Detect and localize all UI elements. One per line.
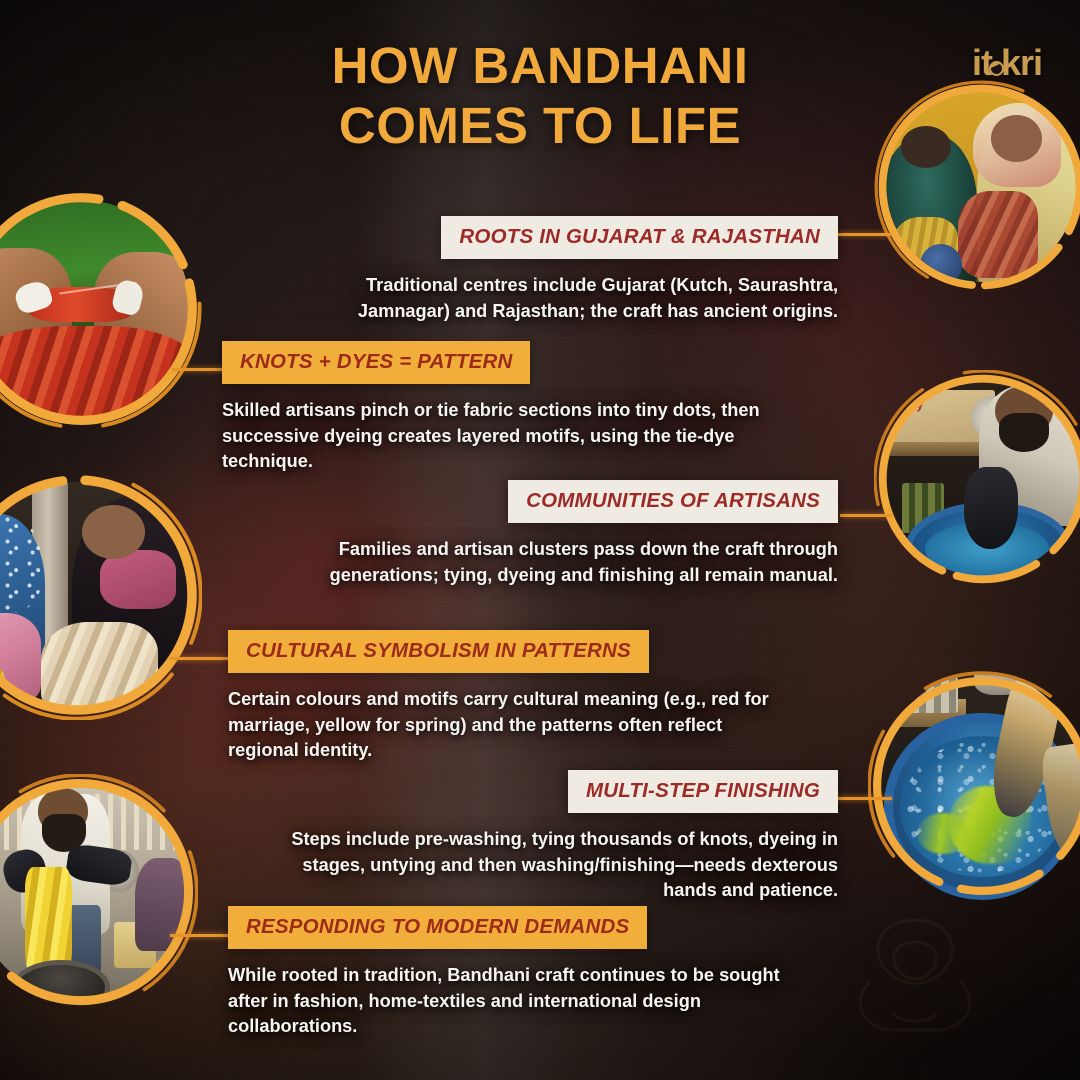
section-symbolism: CULTURAL SYMBOLISM IN PATTERNS Certain c… [228,630,848,764]
section-body-communities: Families and artisan clusters pass down … [250,537,838,588]
photo-dyer-blue-vat: y.y [886,382,1080,576]
connector-line-knots [172,368,228,371]
section-label-communities[interactable]: COMMUNITIES OF ARTISANS [508,480,838,523]
photo-dyer-blue-vat-image: y.y [886,382,1080,576]
section-communities: COMMUNITIES OF ARTISANS Families and art… [250,480,838,588]
section-knots: KNOTS + DYES = PATTERN Skilled artisans … [222,341,842,475]
photo-man-lifting-yellow-fabric-image [0,786,186,998]
page-title-line-1: HOW BANDHANI [0,36,1080,96]
connector-line-communities [840,514,892,517]
connector-line-symbolism [170,657,228,660]
section-body-roots: Traditional centres include Gujarat (Kut… [270,273,838,324]
photo-man-lifting-yellow-fabric [0,786,186,998]
photo-women-tying-courtyard [0,482,190,708]
itokri-logo[interactable]: itkri [972,42,1042,84]
photo-indigo-vat-bundles [880,672,1080,900]
photo-women-tying-courtyard-image [0,482,190,708]
connector-line-roots [838,233,892,236]
connector-line-modern [170,934,228,937]
logo-text-right: kri [1001,42,1042,83]
section-body-symbolism: Certain colours and motifs carry cultura… [228,687,774,764]
section-body-knots: Skilled artisans pinch or tie fabric sec… [222,398,822,475]
connector-line-finishing [836,797,892,800]
page-title-line-2: COMES TO LIFE [0,96,1080,156]
section-label-symbolism[interactable]: CULTURAL SYMBOLISM IN PATTERNS [228,630,649,673]
photo-indigo-vat-bundles-image [880,672,1080,900]
section-body-finishing: Steps include pre-washing, tying thousan… [276,827,838,904]
logo-text-left: it [972,42,992,83]
section-label-roots[interactable]: ROOTS IN GUJARAT & RAJASTHAN [441,216,838,259]
section-label-knots[interactable]: KNOTS + DYES = PATTERN [222,341,530,384]
page-title: HOW BANDHANI COMES TO LIFE [0,36,1080,156]
section-roots: ROOTS IN GUJARAT & RAJASTHAN Traditional… [270,216,838,324]
section-modern: RESPONDING TO MODERN DEMANDS While roote… [228,906,848,1040]
logo-dot-icon [989,61,1004,76]
section-body-modern: While rooted in tradition, Bandhani craf… [228,963,788,1040]
section-label-modern[interactable]: RESPONDING TO MODERN DEMANDS [228,906,647,949]
section-label-finishing[interactable]: MULTI-STEP FINISHING [568,770,838,813]
photo-hands-tying-red-fabric [0,200,190,418]
section-finishing: MULTI-STEP FINISHING Steps include pre-w… [276,770,838,904]
infographic-poster: HOW BANDHANI COMES TO LIFE itkri [0,0,1080,1080]
photo-hands-tying-red-fabric-image [0,200,190,418]
